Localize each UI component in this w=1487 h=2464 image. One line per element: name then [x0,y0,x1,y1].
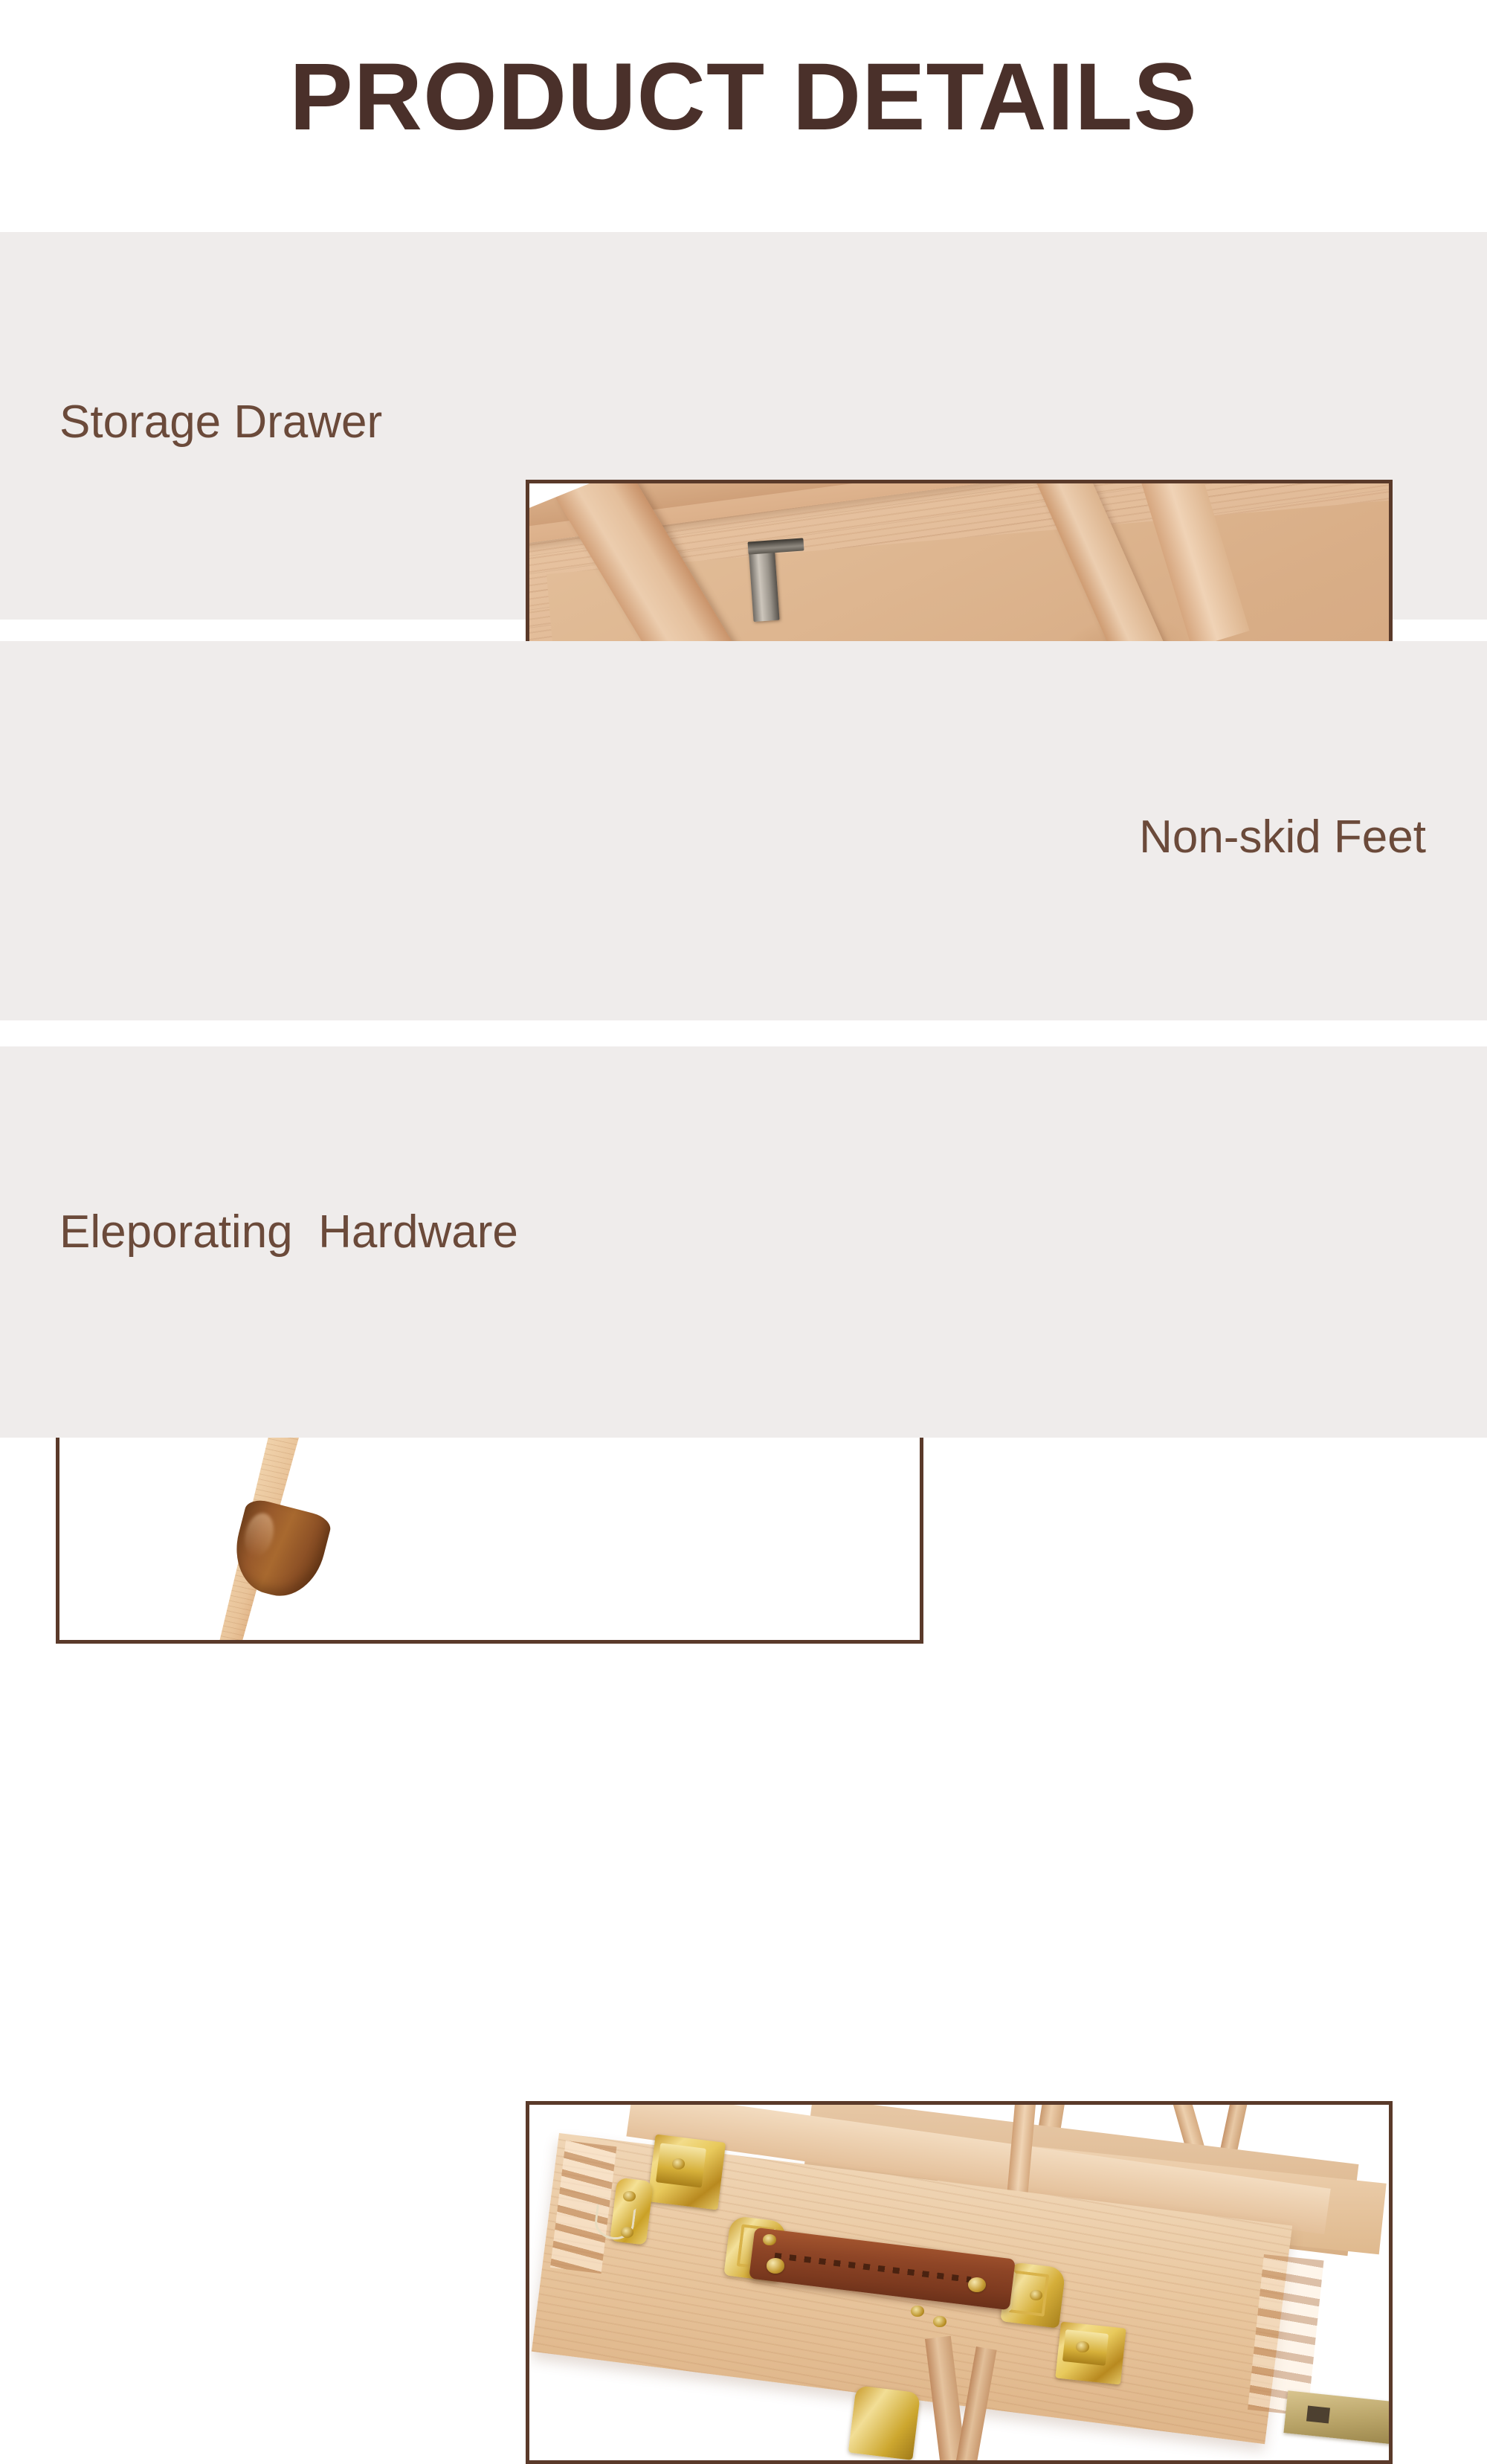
screw-bracket-left [763,2234,775,2245]
panel-label-non-skid-feet: Non-skid Feet [1139,812,1426,863]
bottom-metal-plate-slot [1306,2406,1330,2424]
drawer-metal-clip [749,544,780,622]
screw-latch-left [672,2158,685,2169]
screw-latch-right [1076,2341,1088,2352]
handle-bracket-arm-right [1008,2270,1049,2317]
panel-label-hardware: Eleporating Hardware [59,1207,518,1258]
panel-label-storage-drawer: Storage Drawer [59,397,382,448]
page-header: PRODUCT DETAILS [0,0,1487,232]
screw-dring-bottom [621,2227,633,2238]
handle-rivet-left [767,2258,784,2273]
screw-front-lower [933,2316,946,2327]
product-details-page: PRODUCT DETAILS Storage Drawer [0,0,1487,1487]
hardware-photo [529,2105,1389,2460]
hardware-photo-frame [526,2101,1393,2464]
screw-front-upper [911,2306,923,2317]
handle-rivet-right [968,2277,986,2292]
page-title: PRODUCT DETAILS [0,46,1487,149]
bottom-brass-bracket [848,2385,920,2460]
